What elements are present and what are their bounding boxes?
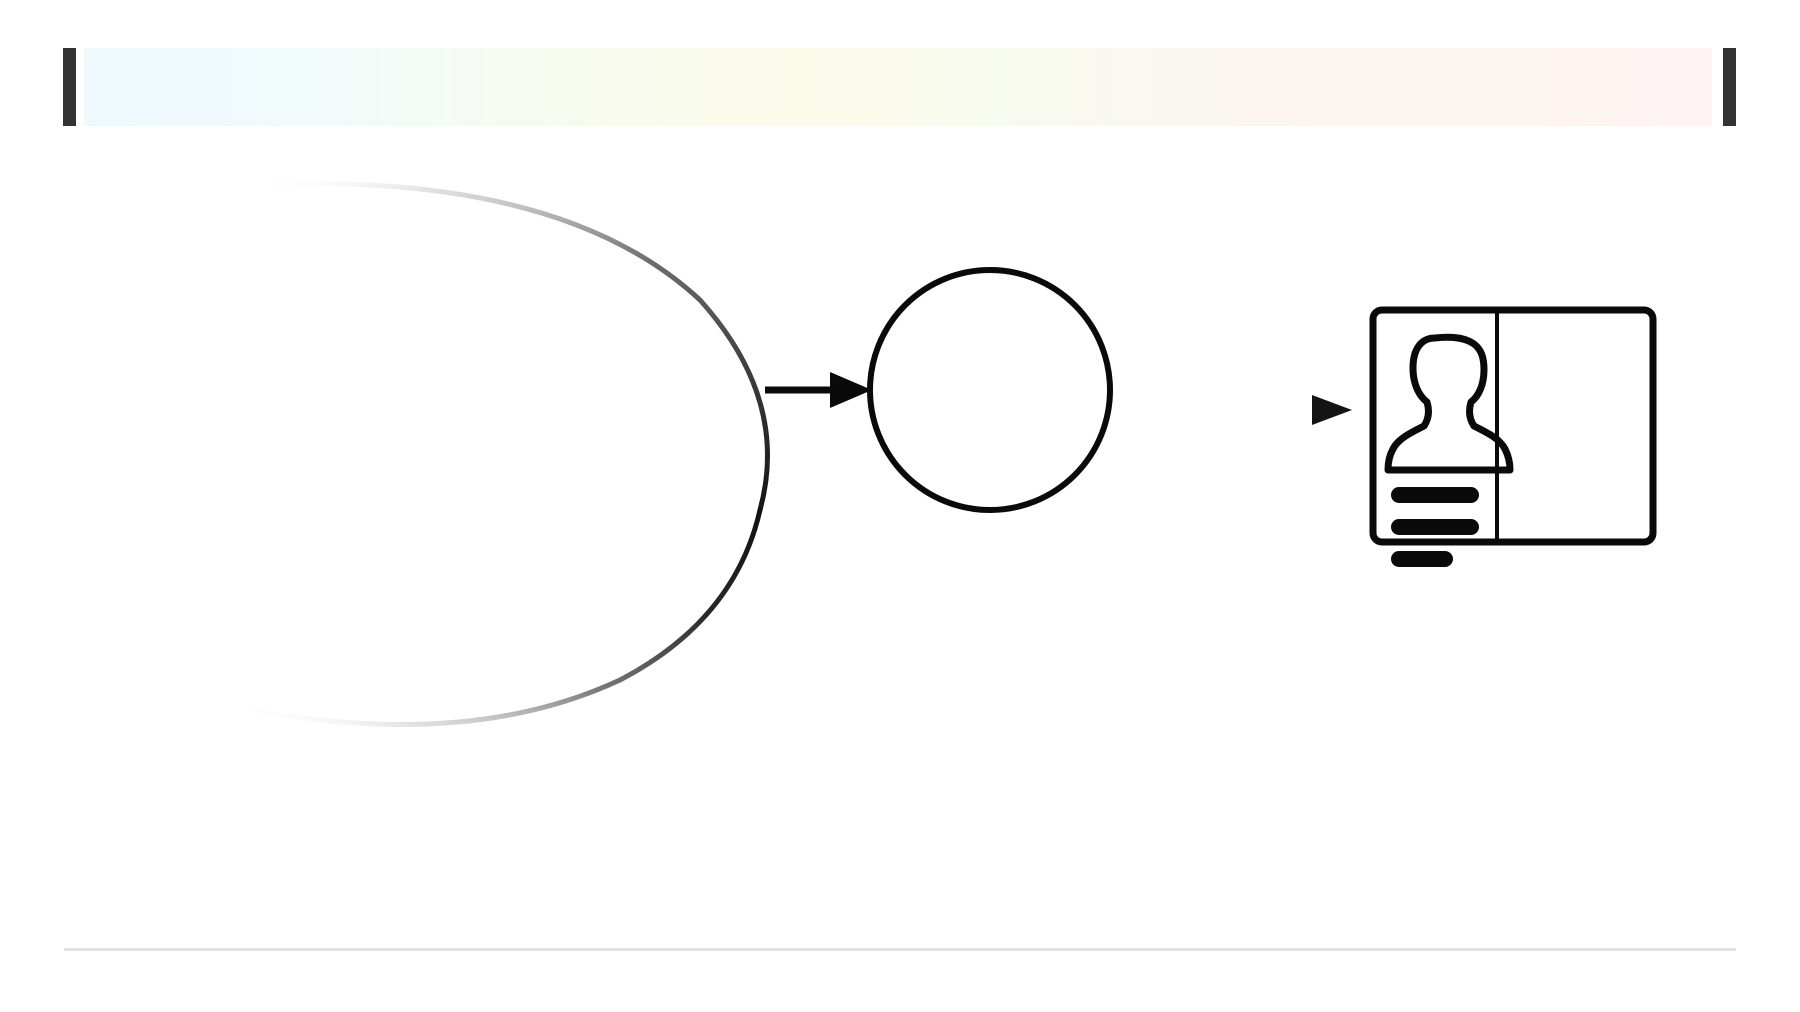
persona-card[interactable]: [1373, 310, 1653, 567]
header: [0, 0, 1800, 160]
step-caption-empathy: [735, 750, 1255, 766]
step-caption-critical-factor: [158, 750, 678, 766]
hub-to-persona-arrow: [1120, 395, 1352, 425]
persona-card-frame: [1373, 310, 1653, 542]
cluster-envelope-arc: [250, 183, 768, 724]
page-title: [0, 48, 1800, 126]
cluster-to-hub-arrow: [765, 372, 872, 408]
footer-divider: [64, 948, 1736, 951]
step-caption-generating-persona: [1240, 750, 1760, 766]
persona-detail-bars: [1391, 487, 1479, 567]
empathy-hub-circle[interactable]: [870, 270, 1110, 510]
